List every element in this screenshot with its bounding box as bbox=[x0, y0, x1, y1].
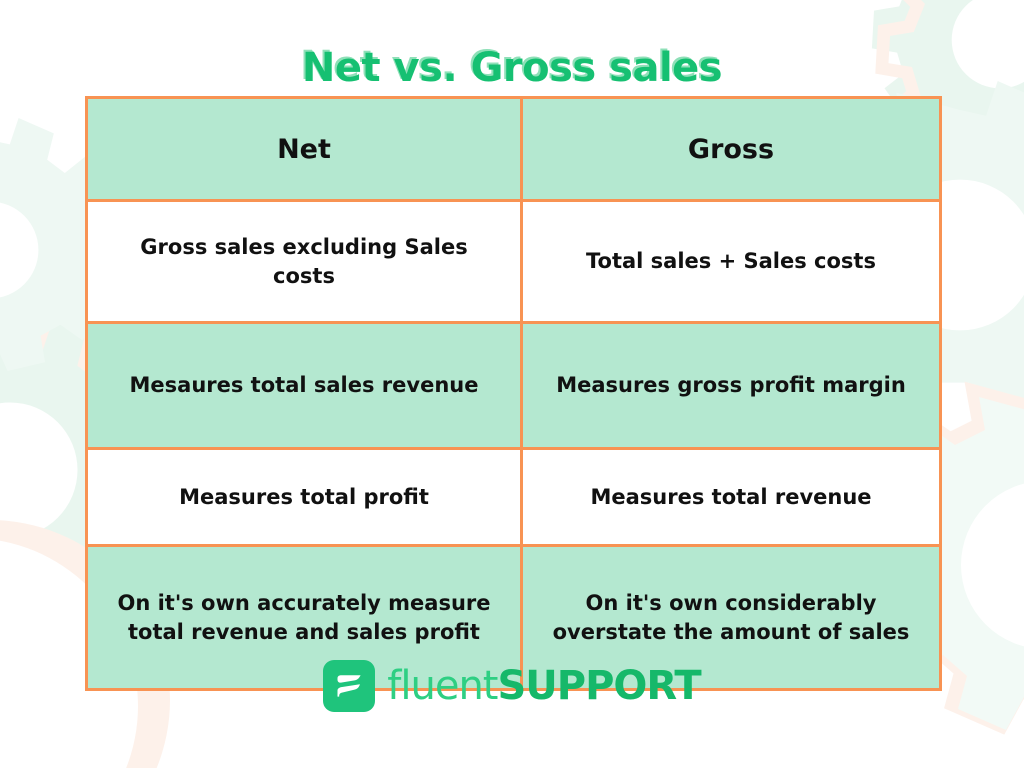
cell-gross: Measures total revenue bbox=[522, 449, 941, 546]
comparison-table-container: Net Gross Gross sales excluding Sales co… bbox=[85, 96, 939, 691]
brand-logo-fluent: fluent bbox=[387, 663, 497, 709]
table-body: Gross sales excluding Sales costs Total … bbox=[87, 201, 941, 690]
fluent-support-logo-icon bbox=[323, 660, 375, 712]
brand-logo: fluentSUPPORT bbox=[0, 660, 1024, 712]
cell-net: Measures total profit bbox=[87, 449, 522, 546]
net-vs-gross-table: Net Gross Gross sales excluding Sales co… bbox=[85, 96, 942, 691]
cell-net: Gross sales excluding Sales costs bbox=[87, 201, 522, 323]
table-header: Net Gross bbox=[87, 98, 941, 201]
brand-logo-text: fluentSUPPORT bbox=[387, 666, 700, 706]
table-row: Gross sales excluding Sales costs Total … bbox=[87, 201, 941, 323]
cell-gross: Measures gross profit margin bbox=[522, 323, 941, 449]
table-header-row: Net Gross bbox=[87, 98, 941, 201]
page-title: Net vs. Gross sales bbox=[302, 45, 722, 91]
brand-logo-support: SUPPORT bbox=[497, 663, 700, 709]
table-row: Measures total profit Measures total rev… bbox=[87, 449, 941, 546]
table-row: Mesaures total sales revenue Measures gr… bbox=[87, 323, 941, 449]
cell-gross: Total sales + Sales costs bbox=[522, 201, 941, 323]
column-header-net: Net bbox=[87, 98, 522, 201]
column-header-gross: Gross bbox=[522, 98, 941, 201]
cell-net: Mesaures total sales revenue bbox=[87, 323, 522, 449]
